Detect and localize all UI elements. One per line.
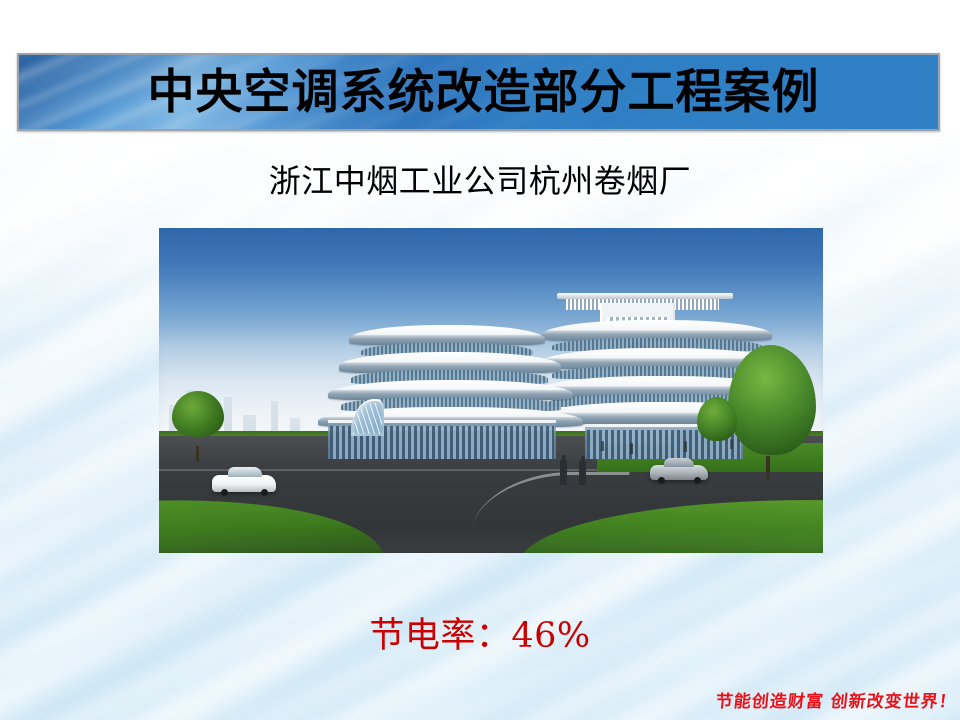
page-title: 中央空调系统改造部分工程案例 — [19, 55, 938, 129]
photo-bottom-blur — [159, 511, 823, 553]
pedestrian-distant-1-icon — [630, 443, 633, 454]
building-photo — [159, 228, 823, 553]
pedestrian-left-icon — [560, 459, 567, 485]
pedestrian-distant-4-icon — [601, 441, 604, 451]
pedestrian-distant-2-icon — [684, 441, 687, 452]
atrium-rib-pattern — [353, 403, 382, 434]
subtitle-company-name: 浙江中烟工业公司杭州卷烟厂 — [0, 163, 960, 200]
white-sedan-icon — [212, 475, 276, 492]
silver-sedan-icon — [650, 465, 708, 480]
pedestrian-right-icon — [579, 460, 586, 485]
tree-left-trunk-icon — [196, 446, 199, 462]
slide-canvas: 中央空调系统改造部分工程案例 浙江中烟工业公司杭州卷烟厂 — [0, 0, 960, 720]
title-banner: 中央空调系统改造部分工程案例 — [17, 53, 940, 131]
tree-right-small-icon — [697, 397, 737, 441]
pedestrian-distant-3-icon — [730, 439, 733, 449]
office-building-left-wing — [318, 322, 570, 459]
footer-slogan: 节能创造财富 创新改变世界！ — [715, 687, 959, 712]
white-sedan-cabin-icon — [228, 467, 262, 477]
tree-right-large-trunk-icon — [766, 456, 770, 480]
energy-saving-rate: 节电率：46% — [0, 607, 960, 658]
pedestrian-left-head-icon — [562, 455, 566, 459]
silver-sedan-cabin-icon — [664, 458, 694, 467]
pedestrian-right-head-icon — [581, 456, 585, 460]
